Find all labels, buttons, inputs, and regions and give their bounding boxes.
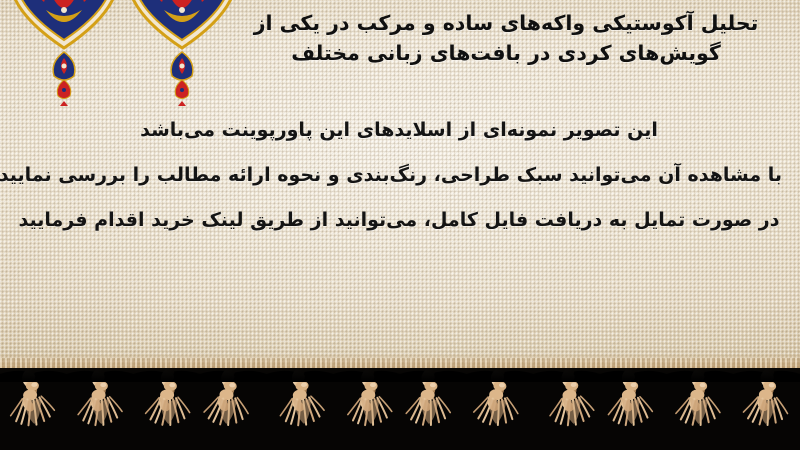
carpet-fringe-region [0, 368, 800, 450]
slide-body-line-2: با مشاهده آن می‌توانید سبک طراحی، رنگ‌بن… [16, 153, 782, 198]
slide-title-line-2: گویش‌های کردی در بافت‌های زبانی مختلف [226, 38, 786, 68]
slide-title-line-1: تحلیل آکوستیکی واکه‌های ساده و مرکب در ی… [226, 8, 786, 38]
slide-title: تحلیل آکوستیکی واکه‌های ساده و مرکب در ی… [226, 8, 786, 68]
slide-body-line-1: این تصویر نمونه‌ای از اسلایدهای این پاور… [16, 108, 782, 153]
slide-root: تحلیل آکوستیکی واکه‌های ساده و مرکب در ی… [0, 0, 800, 450]
slide-body: این تصویر نمونه‌ای از اسلایدهای این پاور… [16, 108, 782, 243]
text-layer: تحلیل آکوستیکی واکه‌های ساده و مرکب در ی… [0, 0, 800, 374]
slide-body-line-3: در صورت تمایل به دریافت فایل کامل، می‌تو… [16, 198, 782, 243]
fringe-top-shadow [0, 368, 800, 382]
